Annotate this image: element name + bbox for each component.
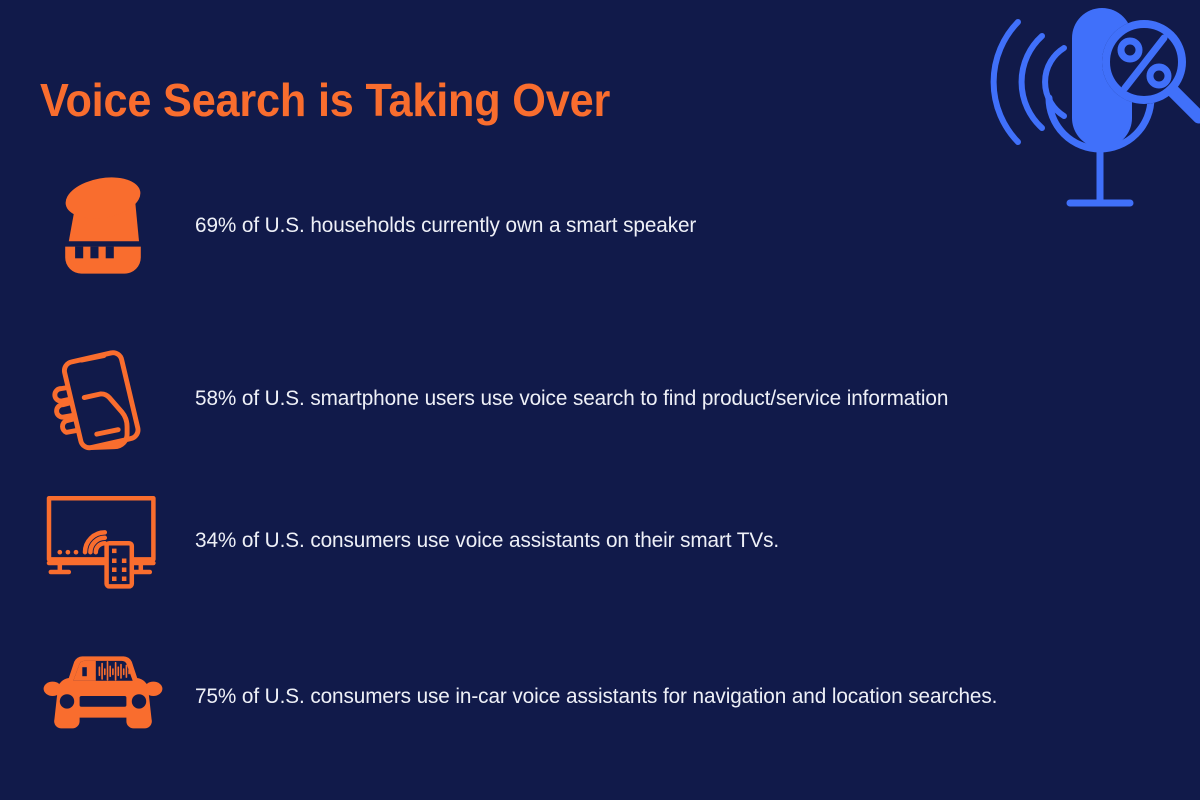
stat-row: 58% of U.S. smartphone users use voice s… (0, 328, 1200, 468)
page-title: Voice Search is Taking Over (40, 72, 610, 128)
smart-speaker-icon (0, 155, 200, 295)
stat-text: 69% of U.S. households currently own a s… (195, 210, 696, 240)
stat-text: 75% of U.S. consumers use in-car voice a… (195, 681, 997, 711)
smart-tv-remote-icon (0, 470, 200, 610)
hand-holding-smartphone-icon (0, 328, 200, 468)
infographic-canvas: Voice Search is Taking Over (0, 0, 1200, 800)
stat-row: 34% of U.S. consumers use voice assistan… (0, 470, 1200, 610)
stat-text: 34% of U.S. consumers use voice assistan… (195, 525, 779, 555)
stat-text: 58% of U.S. smartphone users use voice s… (195, 383, 948, 413)
stat-row: 69% of U.S. households currently own a s… (0, 155, 1200, 295)
in-car-voice-assistant-icon (0, 626, 200, 766)
stat-row: 75% of U.S. consumers use in-car voice a… (0, 626, 1200, 766)
